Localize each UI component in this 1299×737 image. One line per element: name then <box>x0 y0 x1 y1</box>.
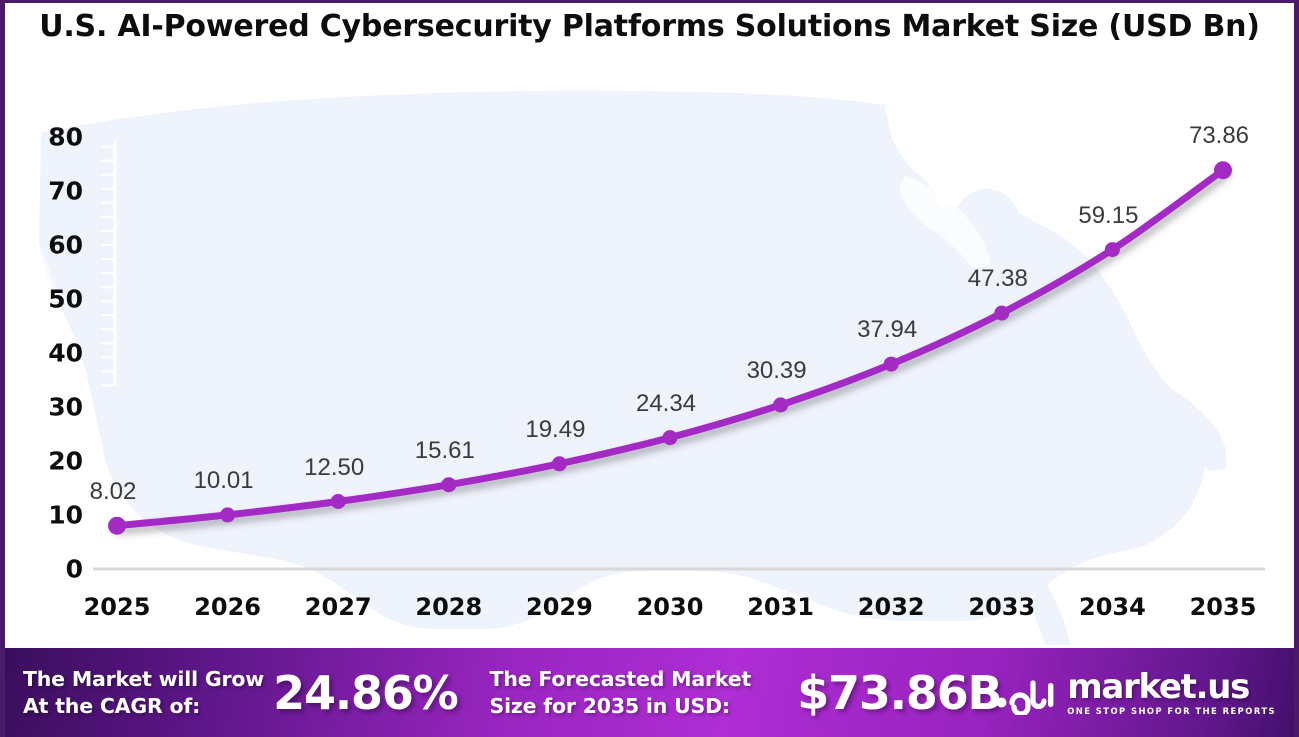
data-point-marker[interactable] <box>441 477 456 492</box>
data-point-marker[interactable] <box>884 357 899 372</box>
forecast-caption-line-2: Size for 2035 in USD: <box>490 693 798 719</box>
data-point-marker[interactable] <box>663 430 678 445</box>
data-point-value-label: 10.01 <box>194 467 254 495</box>
x-axis-tick-label: 2028 <box>415 593 482 621</box>
y-axis-tick-marks <box>101 139 115 385</box>
summary-banner: The Market will Grow At the CAGR of: 24.… <box>5 648 1294 737</box>
data-point-value-label: 8.02 <box>90 478 137 506</box>
data-point-marker[interactable] <box>220 507 235 522</box>
data-point-marker[interactable] <box>1105 242 1120 257</box>
data-point-value-label: 15.61 <box>415 437 475 465</box>
data-point-value-label: 47.38 <box>968 265 1028 293</box>
cagr-value: 24.86% <box>273 666 489 720</box>
data-point-marker[interactable] <box>773 397 788 412</box>
cagr-caption-line-1: The Market will Grow <box>23 666 273 692</box>
data-point-value-label: 30.39 <box>747 357 807 385</box>
series-line <box>117 170 1223 526</box>
market-us-logo-icon <box>995 671 1057 715</box>
x-axis-tick-label: 2029 <box>526 593 593 621</box>
forecast-caption: The Forecasted Market Size for 2035 in U… <box>490 666 798 718</box>
y-axis-tick-label: 30 <box>5 393 83 422</box>
data-point-value-label: 12.50 <box>304 454 364 482</box>
x-axis-tick-label: 2030 <box>637 593 704 621</box>
brand-name: market.us <box>1067 670 1276 704</box>
y-axis-tick-label: 40 <box>5 339 83 368</box>
x-axis-tick-label: 2031 <box>747 593 814 621</box>
chart-infographic: U.S. AI-Powered Cybersecurity Platforms … <box>0 0 1299 737</box>
data-point-marker[interactable] <box>552 456 567 471</box>
y-axis-tick-label: 60 <box>5 231 83 260</box>
forecast-caption-line-1: The Forecasted Market <box>490 666 798 692</box>
x-axis-tick-label: 2034 <box>1079 593 1146 621</box>
data-point-marker[interactable] <box>108 517 126 535</box>
brand-text-block: market.us ONE STOP SHOP FOR THE REPORTS <box>1067 670 1276 715</box>
cagr-caption: The Market will Grow At the CAGR of: <box>23 666 273 718</box>
brand-logo[interactable]: market.us ONE STOP SHOP FOR THE REPORTS <box>995 670 1280 715</box>
data-point-marker[interactable] <box>994 306 1009 321</box>
y-axis-tick-label: 20 <box>5 447 83 476</box>
forecast-value: $73.86B <box>797 666 995 720</box>
y-axis-tick-label: 50 <box>5 285 83 314</box>
data-point-value-label: 59.15 <box>1078 202 1138 230</box>
chart-vector-layer <box>5 55 1294 645</box>
data-point-value-label: 37.94 <box>857 316 917 344</box>
data-point-marker[interactable] <box>331 494 346 509</box>
data-point-value-label: 73.86 <box>1189 122 1249 150</box>
x-axis-tick-label: 2032 <box>858 593 925 621</box>
x-axis-tick-label: 2026 <box>194 593 261 621</box>
y-axis-tick-label: 70 <box>5 177 83 206</box>
x-axis-tick-label: 2025 <box>84 593 151 621</box>
brand-tagline: ONE STOP SHOP FOR THE REPORTS <box>1067 707 1276 715</box>
x-axis-tick-label: 2027 <box>305 593 372 621</box>
y-axis-tick-label: 80 <box>5 123 83 152</box>
y-axis-tick-label: 10 <box>5 501 83 530</box>
x-axis-tick-label: 2033 <box>968 593 1035 621</box>
cagr-caption-line-2: At the CAGR of: <box>23 693 273 719</box>
data-point-value-label: 19.49 <box>525 416 585 444</box>
data-point-value-label: 24.34 <box>636 390 696 418</box>
series-data-points <box>108 161 1232 535</box>
chart-plot-area: 01020304050607080 2025202620272028202920… <box>5 55 1294 645</box>
data-point-marker[interactable] <box>1214 161 1232 179</box>
x-axis-tick-label: 2035 <box>1190 593 1257 621</box>
y-axis-tick-label: 0 <box>5 555 83 584</box>
page-title: U.S. AI-Powered Cybersecurity Platforms … <box>5 9 1294 44</box>
